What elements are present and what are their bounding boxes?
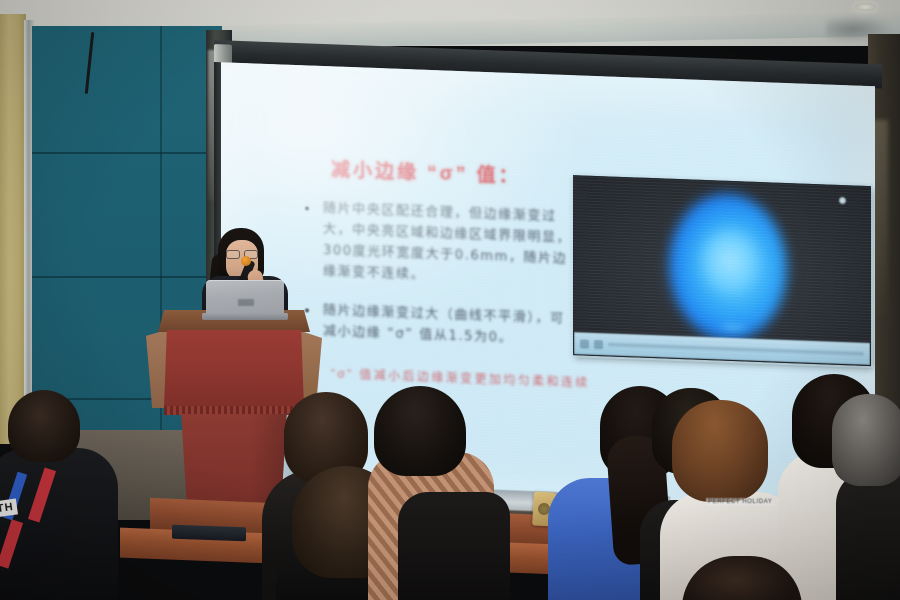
bullet-text: 随片中央区配还合理，但边缘渐变过大，中央亮区域和边缘区域界限明显，300度光环宽…	[323, 198, 575, 291]
slide-bullet-item: 随片中央区配还合理，但边缘渐变过大，中央亮区域和边缘区域界限明显，300度光环宽…	[305, 197, 575, 291]
stop-button-icon[interactable]	[594, 339, 603, 348]
lecture-hall-photo: 减小边缘 “σ” 值： 随片中央区配还合理，但边缘渐变过大，中央亮区域和边缘区域…	[0, 0, 900, 600]
video-marker-dot-icon	[839, 197, 846, 204]
bullet-dot-icon	[305, 206, 309, 210]
jacket-badge-text: TH	[0, 499, 18, 518]
ceiling-light-icon	[855, 3, 876, 11]
attendee-gray-hair-right-head	[832, 394, 900, 486]
laptop-brand-logo-icon	[238, 299, 254, 306]
blue-light-spot-core	[702, 229, 758, 293]
slide-bullet-list: 随片中央区配还合理，但边缘渐变过大，中央亮区域和边缘区域界限明显，300度光环宽…	[305, 197, 575, 369]
slide-title: 减小边缘 “σ” 值：	[331, 154, 521, 188]
wall-pillar-wood-trim	[0, 14, 26, 444]
play-button-icon[interactable]	[580, 339, 589, 348]
slide-bullet-item: 随片边缘渐变过大（曲线不平滑），可减小边缘 “σ” 值从1.5为0。	[305, 300, 575, 352]
bullet-text: 随片边缘渐变过大（曲线不平滑），可减小边缘 “σ” 值从1.5为0。	[323, 300, 575, 351]
video-progress-track[interactable]	[608, 342, 864, 355]
laptop-lid	[206, 280, 284, 316]
audience-laptop[interactable]	[172, 525, 246, 542]
attendee-gray-hair-right-torso	[836, 470, 900, 600]
speaker-glasses-icon	[226, 250, 258, 257]
attendee-brown-bob-head	[672, 400, 768, 502]
laptop-base	[202, 313, 288, 320]
podium-front-panel	[164, 330, 304, 408]
attendee-patterned-top-shoulder	[398, 492, 510, 600]
presenter-laptop[interactable]	[202, 280, 288, 320]
attendee-patterned-top-head	[374, 386, 466, 476]
slide-video-player[interactable]	[573, 175, 871, 366]
microphone-head-icon	[241, 256, 251, 266]
attendee-shirt-text: PERFECT HOLIDAY	[706, 498, 774, 506]
attendee-black-jacket-head	[8, 390, 80, 462]
